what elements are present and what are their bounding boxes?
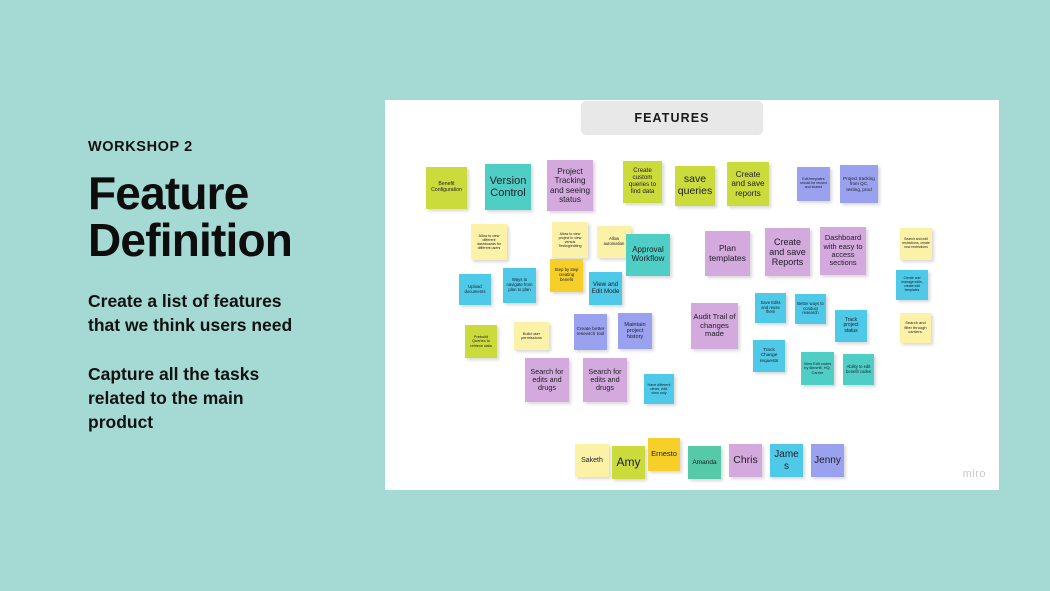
sticky-note[interactable]: Create and save Reports: [765, 228, 810, 276]
sticky-note[interactable]: Allow to view different dashboards for d…: [471, 224, 507, 260]
sticky-note[interactable]: Plan templates: [705, 231, 750, 276]
sticky-note[interactable]: Prebuild Queries to retrieve data: [465, 325, 497, 358]
participant-sticky-note[interactable]: Amanda: [688, 446, 721, 479]
sticky-note[interactable]: Approval Workflow: [626, 234, 670, 276]
sticky-note[interactable]: Save Edits and reuse them: [755, 293, 786, 323]
sticky-note[interactable]: Benefit Configuration: [426, 167, 467, 209]
participant-sticky-note[interactable]: Jenny: [811, 444, 844, 477]
sticky-note[interactable]: Track project status: [835, 310, 867, 342]
sticky-note[interactable]: Search for edits and drugs: [525, 358, 569, 402]
sticky-note[interactable]: Version Control: [485, 164, 531, 210]
participant-sticky-note[interactable]: Saketh: [575, 444, 609, 477]
participant-sticky-note[interactable]: James: [770, 444, 803, 477]
participant-sticky-note[interactable]: Chris: [729, 444, 762, 477]
sticky-note[interactable]: Create and manage edits, create edit tem…: [896, 270, 928, 300]
page-title: Feature Definition: [88, 170, 328, 264]
left-text-panel: WORKSHOP 2 Feature Definition Create a l…: [88, 140, 358, 435]
sticky-note[interactable]: Ability to edit benefit codes: [843, 354, 874, 385]
sticky-note[interactable]: Project tracking from QC, testing, prod: [840, 165, 878, 203]
sticky-note[interactable]: Build user permissions: [514, 322, 549, 350]
miro-board-canvas[interactable]: FEATURES Benefit ConfigurationVersion Co…: [385, 100, 999, 490]
sticky-note[interactable]: Ways to navigate from plan to plan: [503, 268, 536, 303]
sticky-note[interactable]: Create and save reports: [727, 162, 769, 206]
sticky-note[interactable]: Track Change requests: [753, 340, 785, 372]
sticky-note[interactable]: Search for edits and drugs: [583, 358, 627, 402]
sticky-note[interactable]: Project Tracking and seeing status: [547, 160, 593, 211]
workshop-eyebrow: WORKSHOP 2: [88, 140, 358, 156]
sticky-note[interactable]: Edit templates should be reused and shar…: [797, 167, 830, 201]
sticky-note[interactable]: Have different views, edit, view only: [644, 374, 674, 404]
sticky-note[interactable]: Step by step creating benefit: [550, 259, 583, 292]
sticky-note[interactable]: Create custom queries to find data: [623, 161, 662, 203]
sticky-note[interactable]: Dashboard with easy to access sections: [820, 227, 866, 275]
description-paragraph-1: Create a list of features that we think …: [88, 290, 313, 338]
sticky-note[interactable]: Audit Trail of changes made: [691, 303, 738, 349]
sticky-note[interactable]: save queries: [675, 166, 715, 206]
sticky-note[interactable]: Better ways to conduct research: [795, 294, 826, 324]
description-paragraph-2: Capture all the tasks related to the mai…: [88, 363, 313, 434]
sticky-note[interactable]: Upload documents: [459, 274, 491, 305]
features-header-chip: FEATURES: [581, 101, 763, 135]
participant-sticky-note[interactable]: Ernesto: [648, 438, 680, 471]
sticky-note[interactable]: Maintain project history: [618, 313, 652, 349]
slide-canvas: WORKSHOP 2 Feature Definition Create a l…: [0, 0, 1050, 591]
features-header-label: FEATURES: [634, 111, 709, 125]
sticky-note[interactable]: Allow to view project in view versus Tes…: [552, 222, 588, 258]
sticky-note[interactable]: View Edit codes by Benefit, HQ, Carrier: [801, 352, 834, 385]
miro-watermark: miro: [963, 468, 986, 480]
sticky-note[interactable]: View and Edit Mode: [589, 272, 622, 305]
participant-sticky-note[interactable]: Amy: [612, 446, 645, 479]
sticky-note[interactable]: Create better research tool: [574, 314, 607, 350]
sticky-note[interactable]: Search and filter through carriers.: [900, 313, 931, 343]
sticky-note[interactable]: Search and edit restrictions, create new…: [900, 228, 932, 260]
